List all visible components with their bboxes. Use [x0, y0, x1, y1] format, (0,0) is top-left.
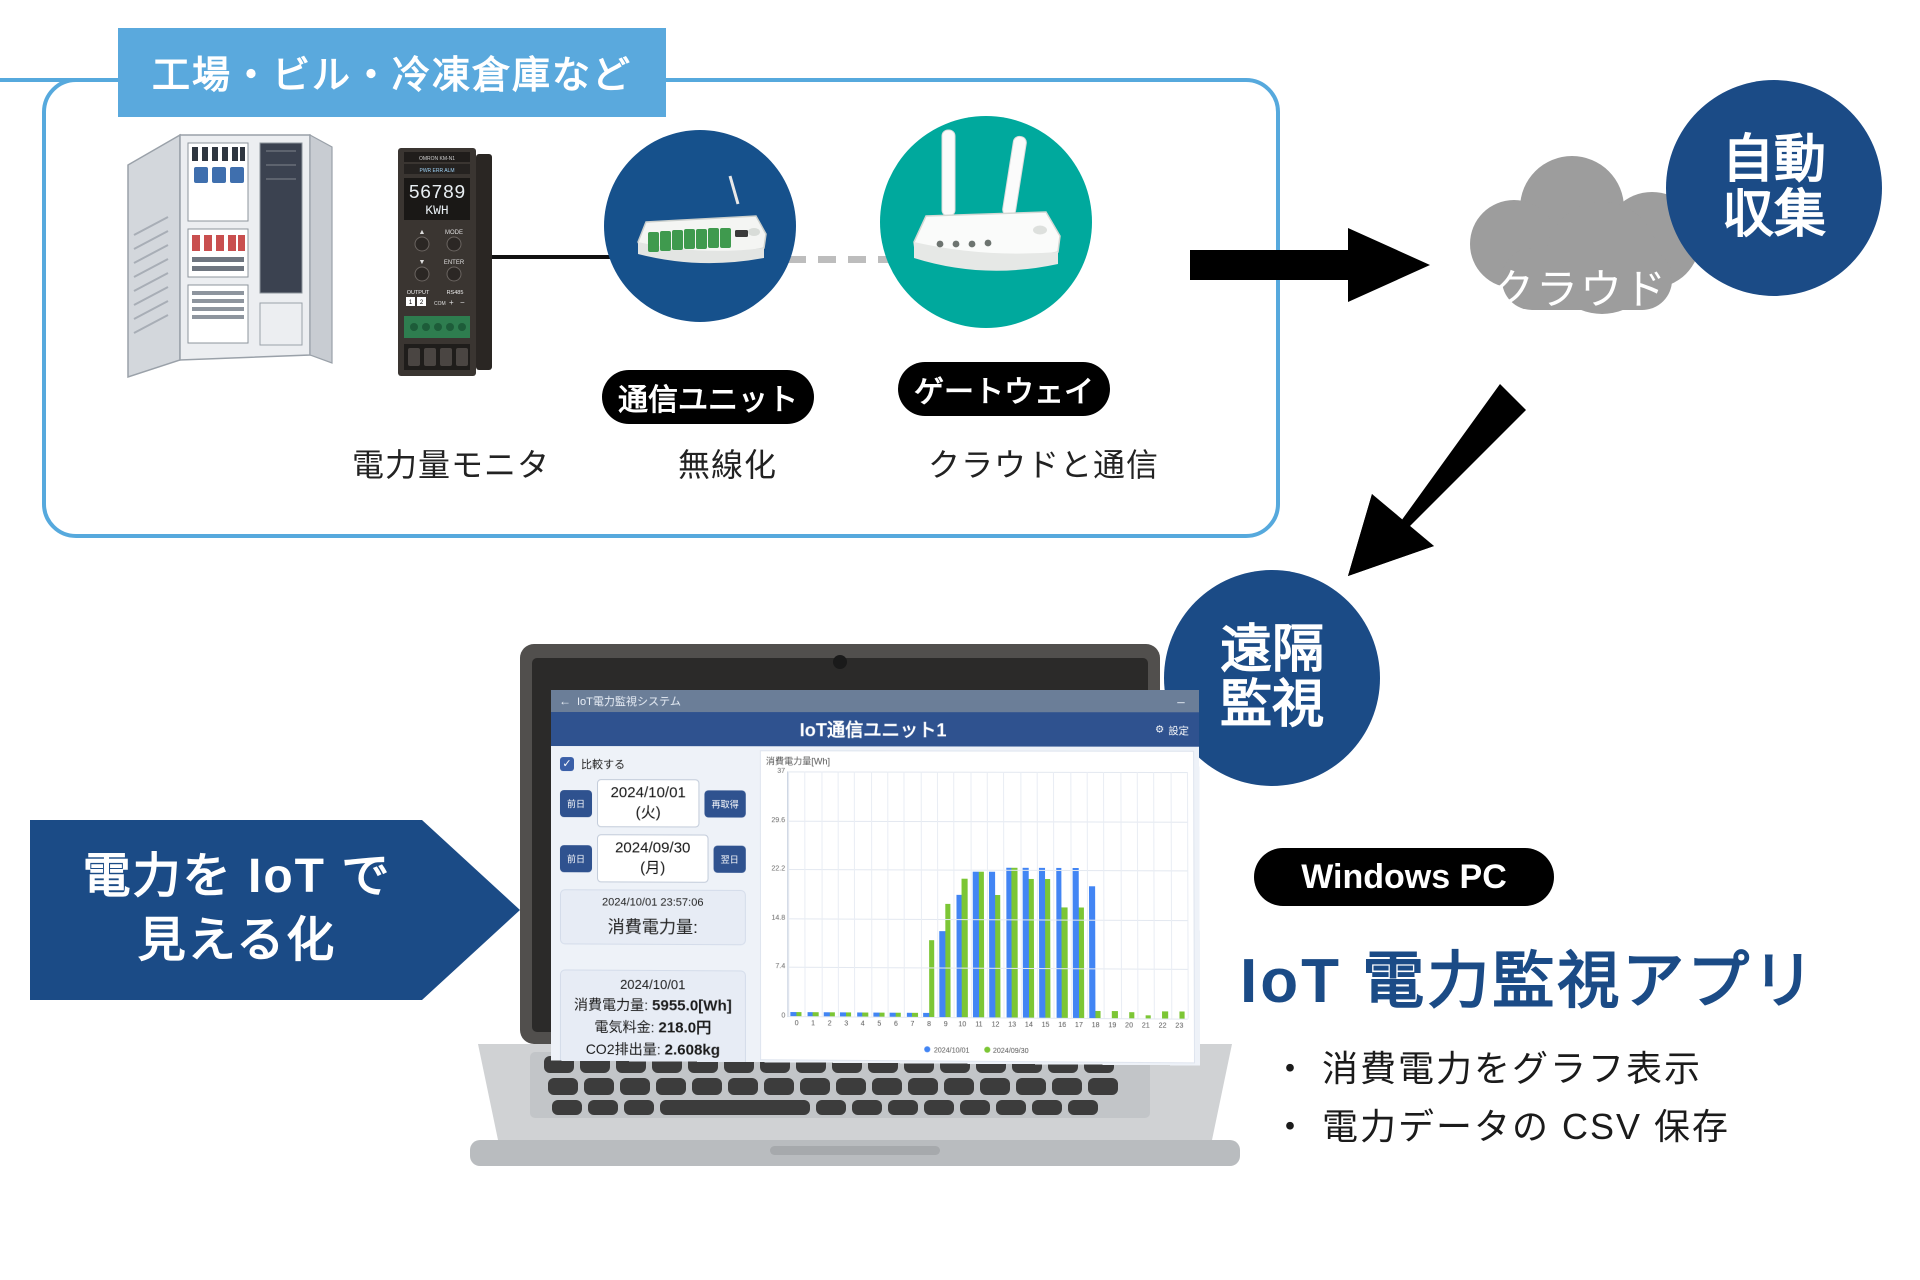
- chart-gridline-v: [1187, 772, 1189, 1019]
- chart-x-tick: 7: [910, 1021, 914, 1028]
- chart-legend: 2024/10/012024/09/30: [761, 1045, 1194, 1056]
- chart-bar: [1078, 907, 1084, 1017]
- svg-text:RS485: RS485: [447, 290, 464, 296]
- chart-x-tick: 6: [894, 1021, 898, 1028]
- chart-bar: [995, 895, 1001, 1017]
- app-product-title: IoT 電力監視アプリ: [1240, 930, 1817, 1020]
- chart-bar: [1012, 867, 1018, 1017]
- banner-line1: 電力を IoT で: [62, 845, 412, 909]
- cloud-label: クラウド: [1492, 256, 1668, 317]
- svg-text:OMRON KM-N1: OMRON KM-N1: [419, 156, 455, 162]
- windows-pc-pill: Windows PC: [1254, 848, 1554, 906]
- app-body: ✓ 比較する 前日 2024/10/01 (火) 再取得 前日 2024/09/…: [551, 746, 1200, 1065]
- summary-cost-row: 電気料金: 218.0円: [565, 1016, 741, 1039]
- live-timestamp: 2024/10/01 23:57:06: [565, 896, 741, 909]
- chart-y-tick: 7.4: [775, 963, 785, 970]
- chart-x-tick: 19: [1108, 1022, 1116, 1029]
- chart-x-tick: 17: [1075, 1022, 1083, 1029]
- settings-button[interactable]: ⚙ 設定: [1155, 722, 1189, 737]
- control-panel: ✓ 比較する 前日 2024/10/01 (火) 再取得 前日 2024/09/…: [551, 746, 755, 1062]
- summary-power-value: 5955.0[Wh]: [652, 997, 732, 1015]
- chart-x-tick: 10: [958, 1021, 966, 1028]
- svg-text:OUTPUT: OUTPUT: [407, 290, 430, 296]
- chart-x-tick: 3: [844, 1020, 848, 1027]
- window-title: IoT電力監視システム: [577, 693, 681, 709]
- refetch-button[interactable]: 再取得: [704, 790, 745, 817]
- power-meter-label: 電力量モニタ: [352, 440, 550, 486]
- chart-bar: [929, 941, 935, 1017]
- compare-checkbox-row[interactable]: ✓ 比較する: [560, 756, 746, 772]
- chart-bar: [978, 872, 984, 1017]
- settings-label: 設定: [1168, 722, 1189, 737]
- svg-text:MODE: MODE: [445, 230, 463, 236]
- chart-legend-item[interactable]: 2024/10/01: [925, 1046, 970, 1054]
- chart-y-tick: 0: [781, 1012, 785, 1019]
- chart-bar: [1062, 907, 1068, 1017]
- chart-bar: [1089, 886, 1095, 1018]
- chart-x-tick: 9: [944, 1021, 948, 1028]
- svg-text:56789: 56789: [408, 182, 465, 204]
- gateway-icon: [880, 116, 1092, 328]
- infographic-root: 工場・ビル・冷凍倉庫など: [0, 0, 1920, 1280]
- communication-unit-icon: [604, 130, 796, 322]
- chart-panel: 消費電力量[Wh] 07.414.822.229.637012345678910…: [755, 746, 1200, 1065]
- chart-x-tick: 8: [927, 1021, 931, 1028]
- chart-y-tick: 29.6: [771, 817, 785, 824]
- feature-item-2: ・ 電力データの CSV 保存: [1272, 1098, 1730, 1156]
- svg-text:▲: ▲: [419, 229, 426, 236]
- chart-x-tick: 22: [1159, 1023, 1167, 1030]
- chart-y-axis-title: 消費電力量[Wh]: [766, 754, 830, 767]
- back-icon[interactable]: ←: [559, 694, 571, 708]
- chart-x-tick: 5: [877, 1021, 881, 1028]
- minimize-button[interactable]: –: [1171, 694, 1191, 709]
- communication-unit-pill: 通信ユニット: [602, 370, 814, 424]
- chart-bar: [962, 879, 968, 1017]
- compare-label: 比較する: [581, 756, 625, 772]
- chart-x-tick: 4: [861, 1021, 865, 1028]
- legend-label: 2024/09/30: [993, 1048, 1029, 1055]
- daily-summary-box: 2024/10/01 消費電力量: 5955.0[Wh] 電気料金: 218.0…: [560, 969, 746, 1065]
- unit-title: IoT通信ユニット1: [551, 716, 1199, 743]
- chart-bar: [1045, 879, 1051, 1017]
- chart-legend-item[interactable]: 2024/09/30: [984, 1047, 1029, 1055]
- chart-y-tick: 22.2: [771, 866, 785, 873]
- power-meter-icon: OMRON KM-N1 PWR ERR ALM 56789 KWH ▲ MODE…: [392, 148, 498, 378]
- summary-co2-row: CO2排出量: 2.608kg: [565, 1038, 741, 1061]
- chart-x-tick: 23: [1175, 1023, 1183, 1030]
- app-screen: ← IoT電力監視システム – IoT通信ユニット1 ⚙ 設定 ✓ 比較する 前…: [551, 690, 1200, 1065]
- summary-date: 2024/10/01: [565, 976, 741, 992]
- site-title: 工場・ビル・冷凍倉庫など: [118, 28, 666, 117]
- auto-collect-line2: 収集: [1722, 188, 1826, 243]
- auto-collect-line1: 自動: [1722, 133, 1826, 188]
- distribution-board-icon: [120, 125, 340, 385]
- gear-icon: ⚙: [1155, 724, 1164, 735]
- banner-line2: 見える化: [62, 909, 412, 973]
- prev-day-button-1[interactable]: 前日: [560, 790, 592, 817]
- next-day-button[interactable]: 翌日: [714, 845, 746, 872]
- summary-co2-value: 2.608kg: [665, 1041, 720, 1059]
- summary-power-row: 消費電力量: 5955.0[Wh]: [565, 995, 741, 1018]
- gateway-circle: [880, 116, 1092, 328]
- chart-x-tick: 14: [1025, 1022, 1033, 1029]
- prev-day-button-2[interactable]: 前日: [560, 845, 592, 872]
- svg-text:COM: COM: [434, 301, 446, 307]
- communication-unit-label: 無線化: [678, 440, 777, 486]
- chart-x-tick: 1: [811, 1020, 815, 1027]
- live-power-label: 消費電力量:: [565, 912, 741, 938]
- chart-x-tick: 2: [828, 1020, 832, 1027]
- date-field-2[interactable]: 2024/09/30 (月): [597, 834, 708, 883]
- legend-color-swatch: [984, 1047, 990, 1053]
- feature-list: ・ 消費電力をグラフ表示 ・ 電力データの CSV 保存: [1272, 1040, 1730, 1157]
- chart-y-tick: 14.8: [771, 915, 785, 922]
- chart-x-tick: 11: [975, 1021, 982, 1028]
- gateway-label: クラウドと通信: [928, 440, 1159, 486]
- chart-bar: [1028, 879, 1034, 1017]
- chart-x-tick: 16: [1058, 1022, 1066, 1029]
- chart-bar: [945, 904, 951, 1018]
- chart-x-tick: 21: [1142, 1022, 1150, 1029]
- chart-x-tick: 0: [795, 1020, 799, 1027]
- site-title-connector: [0, 78, 122, 82]
- arrow-to-cloud-icon: [1190, 228, 1430, 302]
- window-titlebar: ← IoT電力監視システム –: [551, 690, 1199, 712]
- feature-item-1: ・ 消費電力をグラフ表示: [1272, 1040, 1730, 1098]
- legend-label: 2024/10/01: [934, 1047, 970, 1054]
- summary-cost-value: 218.0円: [658, 1019, 711, 1036]
- date-field-1[interactable]: 2024/10/01 (火): [597, 779, 699, 827]
- chart-plot-area: 07.414.822.229.6370123456789101112131415…: [787, 771, 1188, 1019]
- communication-unit-circle: [604, 130, 796, 322]
- chart-container: 消費電力量[Wh] 07.414.822.229.637012345678910…: [760, 750, 1195, 1063]
- chart-y-tick: 37: [777, 768, 785, 775]
- chart-x-tick: 12: [992, 1021, 1000, 1028]
- gateway-pill: ゲートウェイ: [898, 362, 1110, 416]
- wireless-connection-line: [788, 256, 898, 263]
- chart-x-tick: 18: [1092, 1022, 1100, 1029]
- svg-text:ENTER: ENTER: [444, 260, 465, 266]
- compare-checkbox[interactable]: ✓: [560, 757, 574, 771]
- summary-power-label: 消費電力量:: [574, 997, 648, 1014]
- banner-text: 電力を IoT で 見える化: [62, 845, 412, 974]
- date-row-primary: 前日 2024/10/01 (火) 再取得: [560, 779, 746, 828]
- svg-text:−: −: [460, 298, 465, 307]
- svg-text:▼: ▼: [419, 259, 426, 266]
- chart-x-tick: 15: [1042, 1022, 1050, 1029]
- summary-cost-label: 電気料金:: [594, 1019, 654, 1035]
- summary-co2-label: CO2排出量:: [586, 1040, 661, 1057]
- chart-x-tick: 20: [1125, 1022, 1133, 1029]
- auto-collect-badge: 自動 収集: [1666, 80, 1882, 296]
- app-header-bar: IoT通信ユニット1 ⚙ 設定: [551, 712, 1199, 747]
- svg-text:KWH: KWH: [425, 203, 448, 218]
- wired-connection-line: [492, 255, 620, 259]
- date-row-compare: 前日 2024/09/30 (月) 翌日: [560, 834, 746, 883]
- svg-text:+: +: [449, 298, 454, 307]
- legend-color-swatch: [925, 1046, 931, 1052]
- live-status-box: 2024/10/01 23:57:06 消費電力量:: [560, 889, 746, 945]
- svg-text:PWR ERR ALM: PWR ERR ALM: [419, 168, 454, 174]
- chart-x-tick: 13: [1008, 1022, 1016, 1029]
- arrow-to-pc-icon: [1318, 376, 1528, 586]
